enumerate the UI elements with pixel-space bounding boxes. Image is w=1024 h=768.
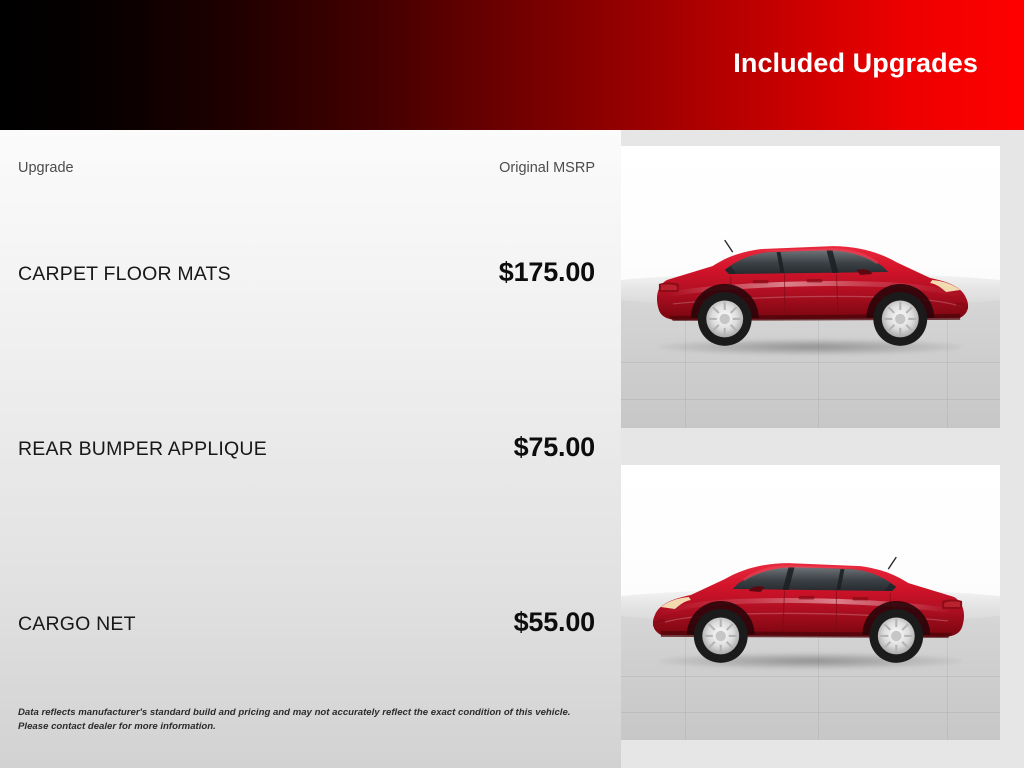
floor-seam	[621, 712, 1000, 713]
upgrade-price: $75.00	[514, 432, 595, 462]
disclaimer-text: Data reflects manufacturer's standard bu…	[18, 706, 603, 733]
disclaimer-line-2: Please contact dealer for more informati…	[18, 720, 603, 734]
floor-seam	[621, 362, 1000, 363]
vehicle-gallery	[621, 130, 1024, 768]
column-header-original-msrp: Original MSRP	[499, 158, 595, 178]
table-header-row: Upgrade Original MSRP	[0, 158, 621, 180]
disclaimer-line-1: Data reflects manufacturer's standard bu…	[18, 706, 603, 720]
upgrade-name: CARGO NET	[18, 612, 136, 636]
upgrades-table-body: CARPET FLOOR MATS $175.00 REAR BUMPER AP…	[0, 180, 621, 705]
column-header-upgrade: Upgrade	[18, 158, 74, 178]
floor-seam	[621, 676, 1000, 677]
vehicle-photo-driver-side[interactable]	[621, 465, 1000, 740]
upgrade-name: CARPET FLOOR MATS	[18, 262, 231, 286]
upgrade-name: REAR BUMPER APPLIQUE	[18, 437, 267, 461]
vehicle-photo-passenger-side[interactable]	[621, 146, 1000, 428]
sedan-side-profile-icon	[621, 535, 1000, 675]
table-row: REAR BUMPER APPLIQUE $75.00	[0, 355, 621, 530]
sedan-side-profile-icon	[621, 218, 1000, 358]
upgrades-page: Included Upgrades Upgrade Original MSRP …	[0, 0, 1024, 768]
table-row: CARPET FLOOR MATS $175.00	[0, 180, 621, 355]
upgrade-price: $175.00	[499, 257, 595, 287]
page-title: Included Upgrades	[733, 50, 978, 77]
table-row: CARGO NET $55.00	[0, 530, 621, 705]
upgrade-price: $55.00	[514, 607, 595, 637]
page-header-banner: Included Upgrades	[0, 0, 1024, 130]
upgrades-panel: Upgrade Original MSRP CARPET FLOOR MATS …	[0, 130, 621, 768]
floor-seam	[621, 399, 1000, 400]
